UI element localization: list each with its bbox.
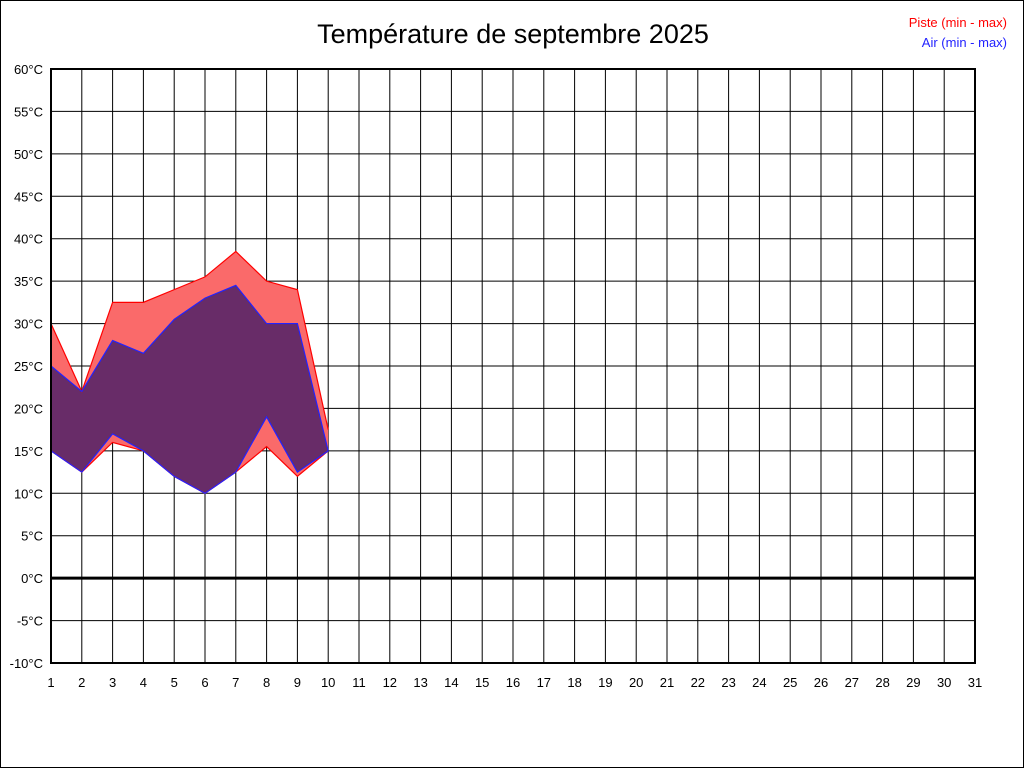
x-axis-tick-label: 11 [352,675,366,690]
x-axis-tick-label: 27 [845,675,859,690]
y-axis-tick-label: 10°C [14,486,43,501]
x-axis-tick-label: 28 [875,675,889,690]
x-axis-tick-label: 15 [475,675,489,690]
x-axis-tick-label: 25 [783,675,797,690]
x-axis-tick-label: 23 [721,675,735,690]
x-axis-tick-label: 14 [444,675,458,690]
x-axis-tick-label: 18 [567,675,581,690]
y-axis-tick-label: 45°C [14,189,43,204]
x-axis-tick-label: 7 [232,675,239,690]
x-axis-tick-label: 8 [263,675,270,690]
data-areas [51,251,328,493]
y-axis-tick-label: 20°C [14,401,43,416]
y-axis-tick-label: 0°C [21,571,43,586]
x-axis-tick-label: 13 [413,675,427,690]
x-axis-tick-label: 5 [171,675,178,690]
x-axis-tick-label: 12 [383,675,397,690]
y-axis-tick-label: 30°C [14,317,43,332]
x-axis-tick-label: 31 [968,675,982,690]
x-axis-tick-label: 26 [814,675,828,690]
y-axis-tick-label: 50°C [14,147,43,162]
y-axis-tick-label: -5°C [17,614,43,629]
y-axis-tick-label: 25°C [14,359,43,374]
y-axis-tick-label: 55°C [14,104,43,119]
y-axis-tick-label: 40°C [14,232,43,247]
x-axis-tick-label: 1 [47,675,54,690]
x-axis-labels: 1234567891011121314151617181920212223242… [47,675,982,690]
plot-area: 60°C55°C50°C45°C40°C35°C30°C25°C20°C15°C… [1,1,1024,769]
chart-page: Température de septembre 2025 Piste (min… [0,0,1024,768]
x-axis-tick-label: 17 [537,675,551,690]
x-axis-tick-label: 6 [201,675,208,690]
y-axis-labels: 60°C55°C50°C45°C40°C35°C30°C25°C20°C15°C… [10,62,43,671]
y-axis-tick-label: 15°C [14,444,43,459]
x-axis-tick-label: 16 [506,675,520,690]
x-axis-tick-label: 3 [109,675,116,690]
x-axis-tick-label: 19 [598,675,612,690]
x-axis-tick-label: 2 [78,675,85,690]
x-axis-tick-label: 9 [294,675,301,690]
x-axis-tick-label: 30 [937,675,951,690]
x-axis-tick-label: 24 [752,675,766,690]
x-axis-tick-label: 20 [629,675,643,690]
x-axis-tick-label: 4 [140,675,147,690]
x-axis-tick-label: 22 [691,675,705,690]
x-axis-tick-label: 10 [321,675,335,690]
y-axis-tick-label: 60°C [14,62,43,77]
y-axis-tick-label: 5°C [21,529,43,544]
chart-svg: 60°C55°C50°C45°C40°C35°C30°C25°C20°C15°C… [1,1,1024,769]
x-axis-tick-label: 21 [660,675,674,690]
x-axis-tick-label: 29 [906,675,920,690]
y-axis-tick-label: -10°C [10,656,43,671]
y-axis-tick-label: 35°C [14,274,43,289]
